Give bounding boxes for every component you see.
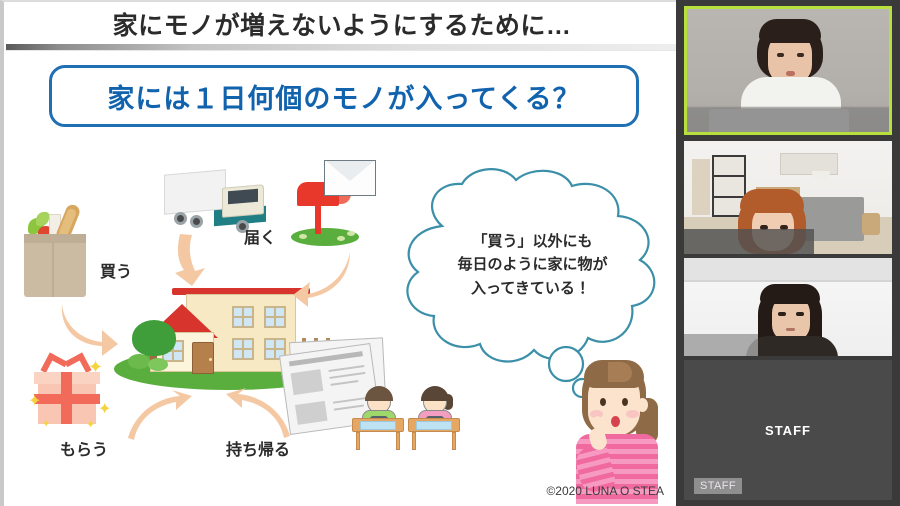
slide-title: 家にモノが増えないようにするために… <box>4 6 676 42</box>
video-tile-participant-1[interactable] <box>684 6 892 135</box>
thinking-girl-illustration <box>564 354 674 504</box>
video-tile-participant-3[interactable] <box>684 258 892 356</box>
gift-box-icon: ✦ ✦ ✦ ✦ ✦ <box>26 354 106 434</box>
arrow-truck-to-house <box>172 232 212 288</box>
flow-diagram: 買う <box>4 132 676 506</box>
question-box: 家には１日何個のモノが入ってくる？ <box>49 65 639 127</box>
title-divider-thin <box>6 50 676 51</box>
arrow-buy-to-house <box>56 300 120 358</box>
video-tile-participant-2[interactable] <box>684 141 892 254</box>
arrow-mail-to-house <box>292 250 354 308</box>
participant-4-name-badge: STAFF <box>694 478 742 494</box>
question-text: 家には１日何個のモノが入ってくる？ <box>107 77 580 116</box>
copyright-text: ©2020 LUNA O STEA <box>4 484 670 498</box>
label-receive: もらう <box>60 436 108 460</box>
bubble-line-2: 毎日のように家に物が <box>430 253 635 276</box>
video-feed-2 <box>684 141 892 254</box>
video-feed-3 <box>684 258 892 356</box>
thought-bubble-text: 「買う」以外にも 毎日のように家に物が 入ってきている ！ <box>430 230 635 300</box>
video-feed-1 <box>687 9 889 132</box>
label-delivered: 届く <box>244 224 276 248</box>
video-participants-panel: STAFF STAFF <box>676 0 900 506</box>
presentation-slide: 家にモノが増えないようにするために… 家には１日何個のモノが入ってくる？ 買う <box>0 0 676 506</box>
screen-root: 家にモノが増えないようにするために… 家には１日何個のモノが入ってくる？ 買う <box>0 0 900 506</box>
bubble-line-3: 入ってきている ！ <box>430 277 635 300</box>
bubble-line-1: 「買う」以外にも <box>430 230 635 253</box>
arrow-bringhome-to-house <box>222 388 294 440</box>
grocery-bag-icon <box>16 202 94 297</box>
arrow-gift-to-house <box>124 390 194 442</box>
envelope-icon <box>324 160 376 196</box>
video-tile-participant-4[interactable]: STAFF STAFF <box>684 360 892 500</box>
